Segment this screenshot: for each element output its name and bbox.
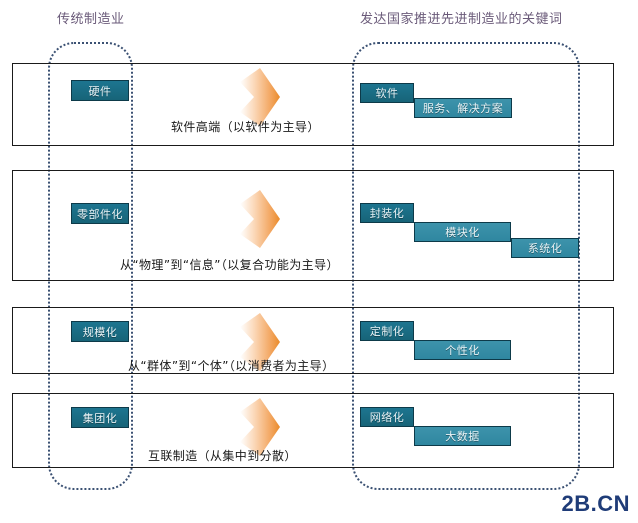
row-caption-3: 从“群体”到“个体”（以消费者为主导） bbox=[128, 357, 334, 374]
traditional-item-hardware[interactable]: 硬件 bbox=[71, 80, 129, 101]
row-caption-2: 从“物理”到“信息”（以复合功能为主导） bbox=[120, 256, 339, 273]
keyword-customization[interactable]: 定制化 bbox=[360, 321, 414, 341]
row-box-4 bbox=[12, 393, 614, 468]
diagram-canvas: 传统制造业 发达国家推进先进制造业的关键词 硬件 软件高端（以软件为主导） 软件… bbox=[0, 0, 638, 523]
keyword-networking[interactable]: 网络化 bbox=[360, 407, 414, 427]
right-chevron-arrow-icon bbox=[238, 188, 282, 250]
row-caption-1: 软件高端（以软件为主导） bbox=[171, 118, 320, 135]
keyword-service-solution[interactable]: 服务、解决方案 bbox=[414, 98, 512, 118]
column-header-keywords: 发达国家推进先进制造业的关键词 bbox=[360, 8, 563, 27]
keyword-personalization[interactable]: 个性化 bbox=[414, 340, 511, 360]
traditional-item-mass-production[interactable]: 规模化 bbox=[71, 321, 129, 342]
row-caption-4: 互联制造（从集中到分散） bbox=[148, 447, 297, 464]
keyword-big-data[interactable]: 大数据 bbox=[414, 426, 511, 446]
keyword-software[interactable]: 软件 bbox=[360, 83, 414, 103]
traditional-item-conglomeration[interactable]: 集团化 bbox=[71, 407, 129, 428]
watermark: 2B.CN bbox=[561, 491, 630, 517]
keyword-modularization[interactable]: 模块化 bbox=[414, 222, 511, 242]
column-header-traditional: 传统制造业 bbox=[57, 8, 125, 27]
keyword-encapsulation[interactable]: 封装化 bbox=[360, 203, 414, 223]
keyword-systematization[interactable]: 系统化 bbox=[511, 238, 579, 258]
traditional-item-componentization[interactable]: 零部件化 bbox=[71, 203, 129, 224]
